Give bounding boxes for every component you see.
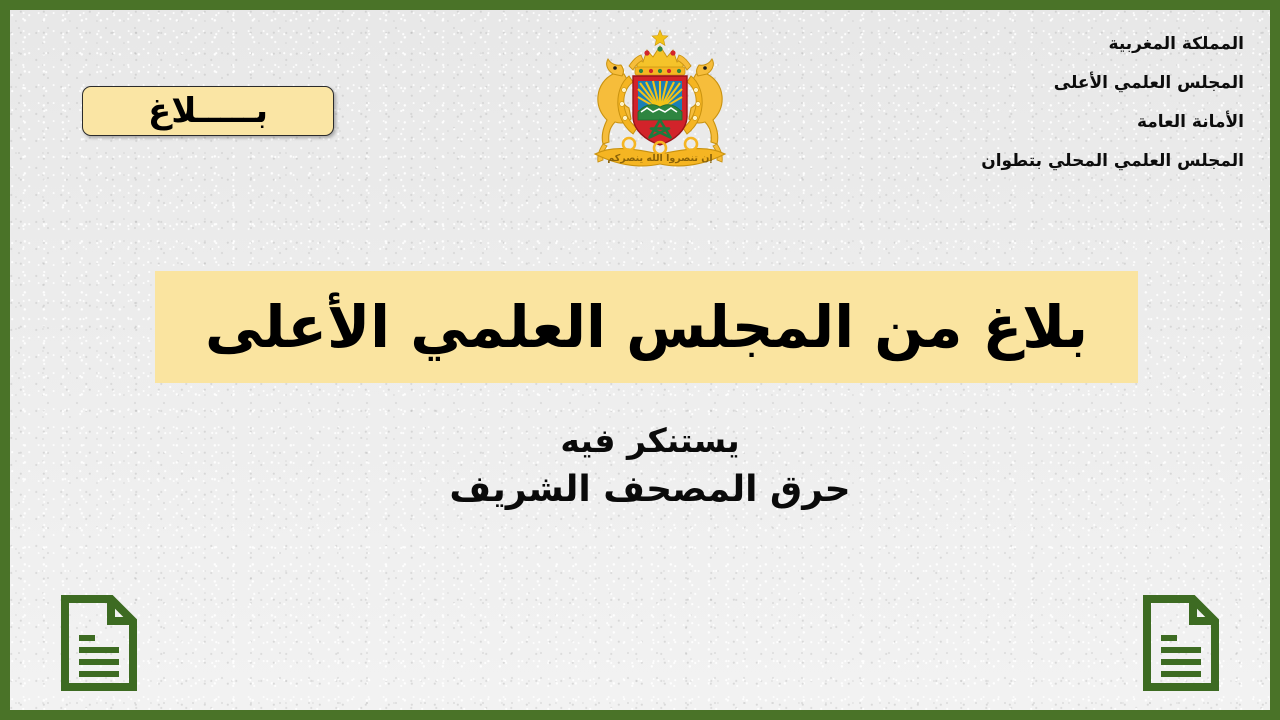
header-line-kingdom: المملكة المغربية (824, 36, 1244, 53)
crown-group (635, 30, 685, 75)
header-line-local-council: المجلس العلمي المحلي بتطوان (824, 153, 1244, 170)
announcement-slide: بـــــلاغ (0, 0, 1280, 720)
balagh-badge[interactable]: بـــــلاغ (82, 86, 334, 136)
subtitle-line-1: يستنكر فيه (10, 422, 1280, 461)
motto-ribbon: إن تنصروا الله ينصركم (595, 138, 725, 166)
institution-header: المملكة المغربية المجلس العلمي الأعلى ال… (824, 36, 1244, 170)
header-line-secretariat: الأمانة العامة (824, 114, 1244, 131)
subtitle-line-2: حرق المصحف الشريف (10, 469, 1280, 511)
motto-text: إن تنصروا الله ينصركم (607, 153, 712, 164)
subtitle-block: يستنكر فيه حرق المصحف الشريف (10, 422, 1280, 511)
balagh-badge-label: بـــــلاغ (148, 94, 268, 128)
main-title-text: بلاغ من المجلس العلمي الأعلى (205, 297, 1088, 358)
moroccan-coat-of-arms-emblem: إن تنصروا الله ينصركم (567, 24, 753, 180)
header-line-supreme-council: المجلس العلمي الأعلى (824, 75, 1244, 92)
main-title-banner: بلاغ من المجلس العلمي الأعلى (155, 271, 1138, 383)
shield-group (633, 76, 687, 145)
document-icon-right (1143, 595, 1219, 691)
document-icon-left (61, 595, 137, 691)
